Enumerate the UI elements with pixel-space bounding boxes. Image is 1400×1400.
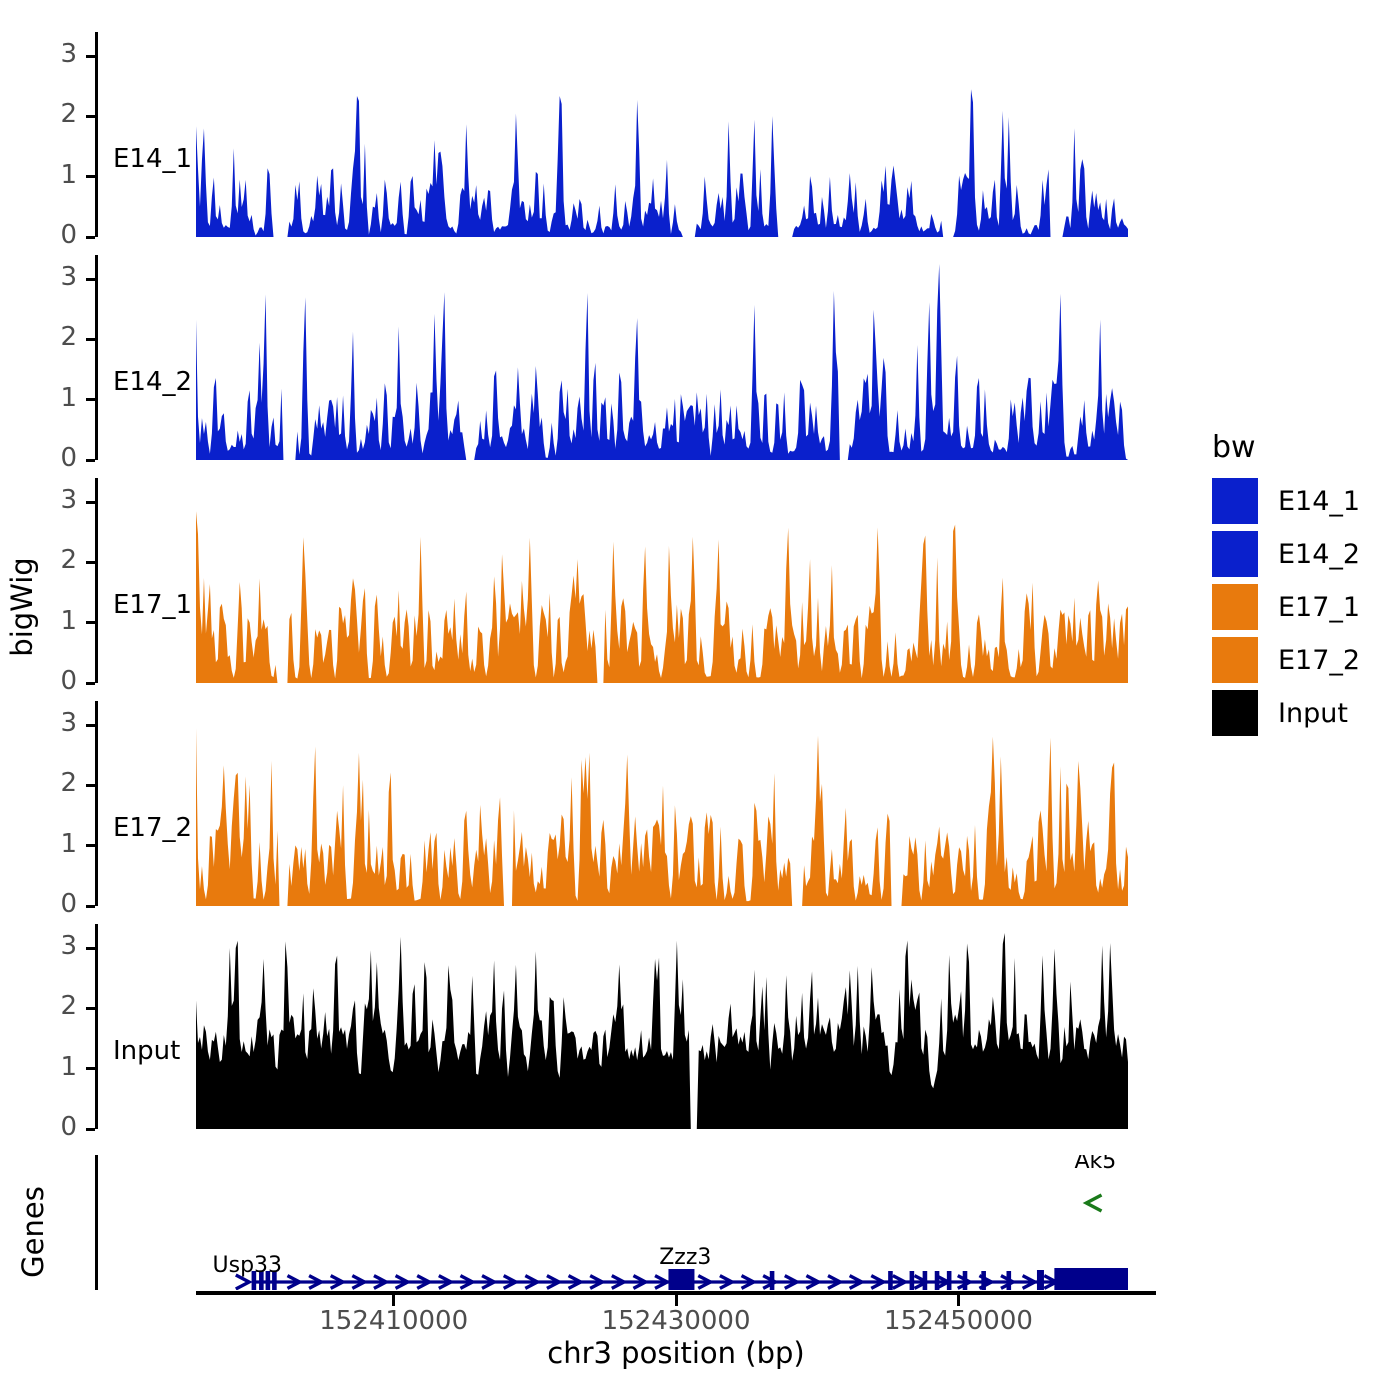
y-axis-tick-label: 2 — [15, 991, 77, 1021]
y-axis-line — [95, 924, 98, 1129]
legend-item-label: E17_2 — [1278, 645, 1360, 676]
y-axis-tick-label: 2 — [15, 322, 77, 352]
coverage-track-input — [196, 924, 1128, 1129]
panel-e14_2: 0123E14_2 — [95, 255, 1148, 460]
y-axis-tick-label: 1 — [15, 160, 77, 190]
coverage-track-e17_1 — [196, 478, 1128, 683]
y-axis-tick — [86, 115, 95, 118]
legend: bw E14_1E14_2E17_1E17_2Input — [1212, 430, 1392, 720]
gene-label-zzz3: Zzz3 — [625, 1245, 745, 1270]
legend-item-input[interactable]: Input — [1212, 690, 1348, 736]
y-axis-tick — [86, 1007, 95, 1010]
legend-color-swatch — [1212, 690, 1258, 736]
track-label-e14_1: E14_1 — [113, 144, 192, 174]
coverage-track-e17_2 — [196, 701, 1128, 906]
y-axis-tick-label: 1 — [15, 1052, 77, 1082]
genes-panel: Usp33Zzz3Ak5 — [95, 1155, 1155, 1305]
y-axis-line — [95, 32, 98, 237]
legend-item-e17_2[interactable]: E17_2 — [1212, 637, 1360, 683]
y-axis-line — [95, 478, 98, 683]
y-axis-tick-label: 0 — [15, 220, 77, 250]
y-axis-tick — [86, 398, 95, 401]
genes-axis-title: Genes — [16, 1177, 50, 1287]
y-axis-tick-label: 1 — [15, 383, 77, 413]
y-axis-tick — [86, 501, 95, 504]
legend-item-label: E14_1 — [1278, 486, 1360, 517]
legend-color-swatch — [1212, 637, 1258, 683]
coverage-track-e14_1 — [196, 32, 1128, 237]
x-axis-title: chr3 position (bp) — [376, 1336, 976, 1370]
y-axis-tick — [86, 278, 95, 281]
y-axis-tick — [86, 561, 95, 564]
x-axis-tick-label: 152430000 — [556, 1306, 796, 1336]
legend-color-swatch — [1212, 584, 1258, 630]
legend-color-swatch — [1212, 478, 1258, 524]
y-axis-tick-label: 0 — [15, 443, 77, 473]
y-axis-tick — [86, 784, 95, 787]
y-axis-tick — [86, 621, 95, 624]
y-axis-tick-label: 3 — [15, 262, 77, 292]
x-axis-tick-label: 152450000 — [839, 1306, 1079, 1336]
y-axis-tick-label: 3 — [15, 708, 77, 738]
panel-e14_1: 0123E14_1 — [95, 32, 1148, 237]
y-axis-tick-label: 0 — [15, 666, 77, 696]
legend-item-label: Input — [1278, 698, 1348, 729]
y-axis-tick — [86, 905, 95, 908]
y-axis-line — [95, 701, 98, 906]
panel-input: 0123Input — [95, 924, 1148, 1129]
track-label-e17_1: E17_1 — [113, 590, 192, 620]
y-axis-tick — [86, 55, 95, 58]
gene-label-ak5: Ak5 — [1035, 1155, 1155, 1174]
y-axis-tick — [86, 682, 95, 685]
panel-e17_2: 0123E17_2 — [95, 701, 1148, 906]
y-axis-tick — [86, 1067, 95, 1070]
coverage-track-e14_2 — [196, 255, 1128, 460]
y-axis-tick — [86, 459, 95, 462]
legend-title: bw — [1212, 430, 1256, 465]
legend-item-e14_1[interactable]: E14_1 — [1212, 478, 1360, 524]
legend-item-label: E17_1 — [1278, 592, 1360, 623]
y-axis-tick — [86, 236, 95, 239]
track-label-e17_2: E17_2 — [113, 813, 192, 843]
y-axis-line — [95, 255, 98, 460]
track-label-e14_2: E14_2 — [113, 367, 192, 397]
y-axis-tick — [86, 338, 95, 341]
x-axis-tick — [675, 1295, 678, 1306]
track-label-input: Input — [113, 1036, 180, 1066]
legend-item-e14_2[interactable]: E14_2 — [1212, 531, 1360, 577]
y-axis-tick-label: 3 — [15, 485, 77, 515]
y-axis-tick — [86, 844, 95, 847]
y-axis-tick-label: 1 — [15, 606, 77, 636]
legend-item-label: E14_2 — [1278, 539, 1360, 570]
gene-label-usp33: Usp33 — [187, 1253, 307, 1278]
y-axis-tick — [86, 175, 95, 178]
y-axis-tick-label: 2 — [15, 768, 77, 798]
genes-track: Usp33Zzz3Ak5 — [98, 1155, 1155, 1305]
y-axis-tick-label: 1 — [15, 829, 77, 859]
y-axis-tick-label: 3 — [15, 39, 77, 69]
x-axis-tick — [392, 1295, 395, 1306]
y-axis-tick — [86, 724, 95, 727]
x-axis-tick-label: 152410000 — [274, 1306, 514, 1336]
legend-item-e17_1[interactable]: E17_1 — [1212, 584, 1360, 630]
y-axis-tick-label: 2 — [15, 545, 77, 575]
y-axis-tick-label: 0 — [15, 1112, 77, 1142]
y-axis-tick — [86, 1128, 95, 1131]
y-axis-tick — [86, 947, 95, 950]
y-axis-tick-label: 2 — [15, 99, 77, 129]
y-axis-tick-label: 3 — [15, 931, 77, 961]
x-axis-tick — [957, 1295, 960, 1306]
y-axis-tick-label: 0 — [15, 889, 77, 919]
panel-e17_1: 0123E17_1 — [95, 478, 1148, 683]
legend-color-swatch — [1212, 531, 1258, 577]
